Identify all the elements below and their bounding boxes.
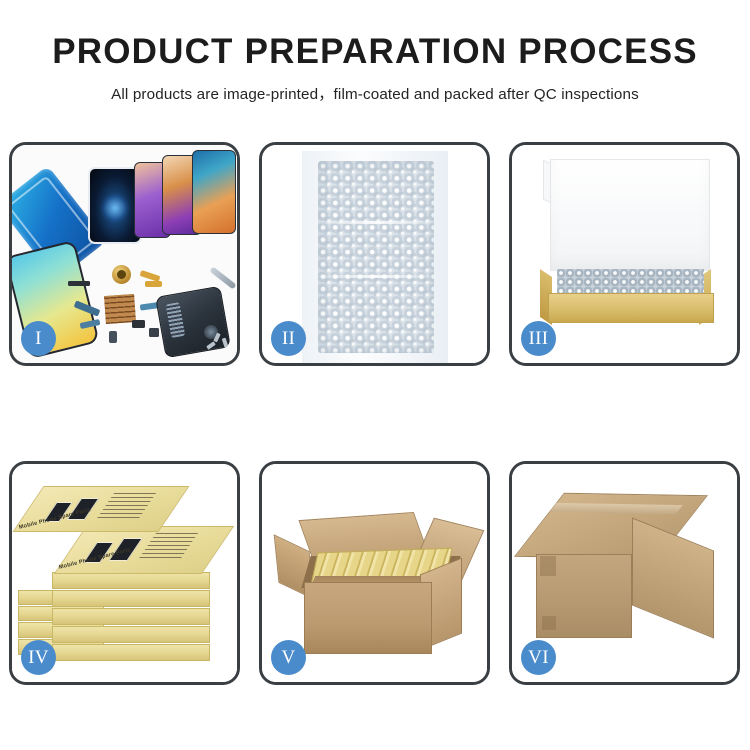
step-card-1: I [9,142,240,366]
step-badge-6: VI [521,640,556,675]
stacked-box-r5 [52,644,210,661]
step-badge-5: V [271,640,306,675]
step-card-5: V [259,461,490,685]
step-card-2: II [259,142,490,366]
header: PRODUCT PREPARATION PROCESS All products… [0,0,750,104]
process-steps-grid: I II III [9,142,741,690]
step-badge-2: II [271,321,306,356]
stacked-box-r1 [52,572,210,589]
bubble-wrapped-contents [557,269,704,295]
step-card-4: Mobile Phone Spare Parts Mobile Phone Sp… [9,461,240,685]
step-card-3: III [509,142,740,366]
box-lid-back [550,159,710,271]
part-chip-2 [132,320,145,328]
carton-tab-1 [540,556,556,576]
part-chip-4 [149,328,159,337]
product-preparation-infographic: PRODUCT PREPARATION PROCESS All products… [0,0,750,750]
page-subtitle: All products are image-printed，film-coat… [0,82,750,104]
phone-back-housing [155,286,231,359]
box-tray-front [548,293,714,323]
step-card-6: VI [509,461,740,685]
mesh-grid-part [104,294,136,324]
sealed-carton-right-panel [632,517,714,638]
step-badge-4: IV [21,640,56,675]
wrap-seam-2 [318,275,434,278]
stacked-box-r3 [52,608,210,625]
part-chip-3 [109,331,117,343]
bubble-wrap-texture [318,161,434,353]
flex-cable-2 [145,281,162,287]
carton-tab-2 [542,616,556,630]
part-chip-1 [68,281,90,286]
wrap-seam-1 [318,221,434,224]
stacked-box-r4 [52,626,210,643]
phone-front-c [192,150,236,234]
page-title: PRODUCT PREPARATION PROCESS [0,34,750,71]
step-badge-3: III [521,321,556,356]
step-badge-1: I [21,321,56,356]
stacked-box-r2 [52,590,210,607]
carton-front-panel [304,582,432,654]
copper-coil-part [112,265,131,284]
